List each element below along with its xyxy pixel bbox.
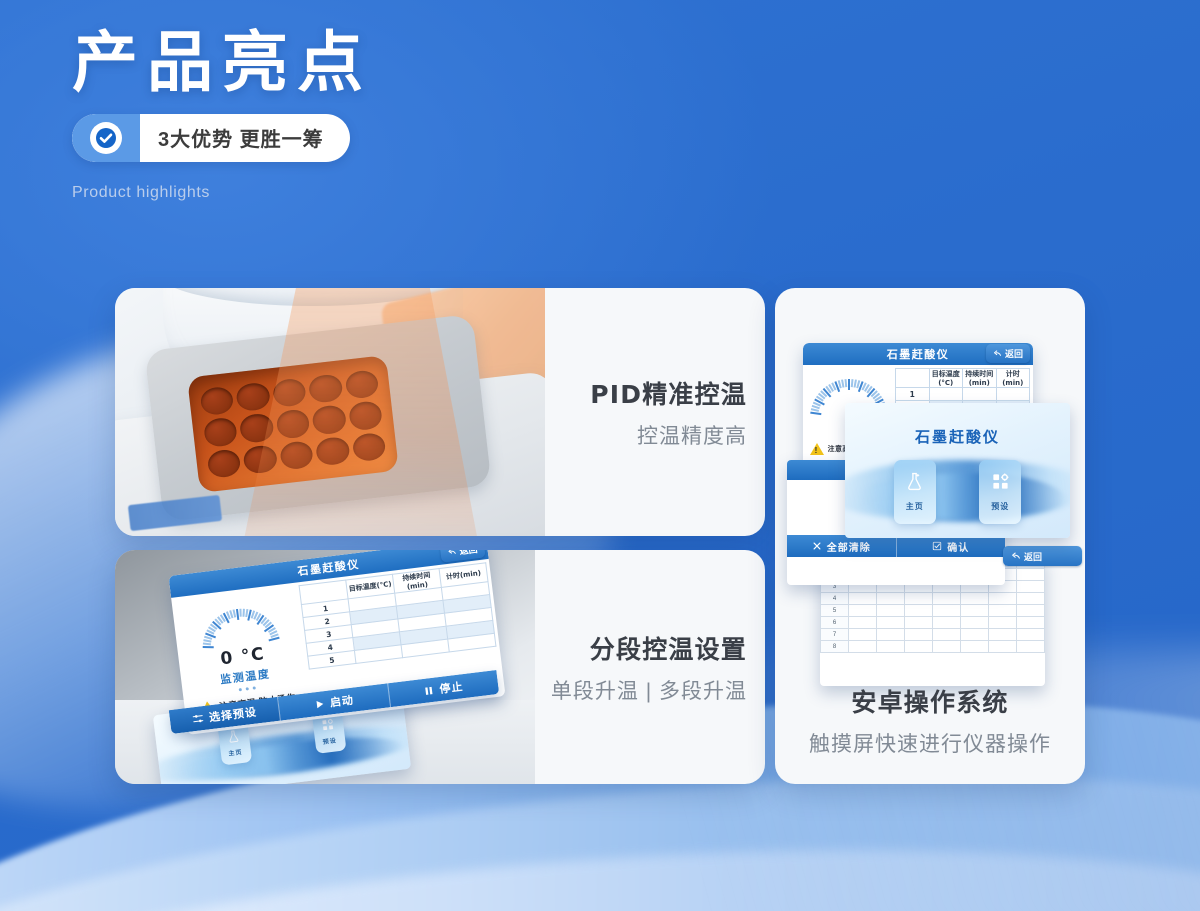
grid-settings-icon: [991, 472, 1010, 491]
card-segment-control[interactable]: 主页 预设 石墨赶酸仪: [115, 550, 765, 784]
table-row: 5: [821, 605, 1045, 617]
screen-app-title: 石墨赶酸仪: [887, 346, 950, 362]
pause-icon: [423, 684, 435, 696]
android-card-title: 安卓操作系统: [851, 683, 1008, 719]
back-arrow-icon: [993, 349, 1002, 358]
table-header-target-temp: 目标温度(°C): [929, 369, 963, 388]
table-row: 4: [821, 593, 1045, 605]
select-preset-label: 选择预设: [208, 704, 258, 726]
well-dot: [207, 448, 242, 479]
pid-product-photo: [115, 288, 545, 536]
well-dot: [199, 386, 234, 417]
clear-all-button[interactable]: 全部清除: [787, 535, 897, 557]
warning-triangle-icon: [810, 443, 824, 455]
back-arrow-icon: [447, 550, 457, 557]
pid-card-text: PID精准控温 控温精度高: [545, 288, 765, 536]
checkbox-icon: [932, 541, 942, 551]
back-button-label: 返回: [459, 550, 478, 557]
back-button[interactable]: 返回: [986, 344, 1030, 363]
table-row: 7: [821, 629, 1045, 641]
check-circle-icon: [90, 122, 122, 154]
gauge-indicator-dots: [238, 686, 255, 691]
start-label: 启动: [329, 692, 355, 711]
home-tile-main-label: 主页: [906, 501, 924, 512]
back-arrow-icon: [1011, 551, 1021, 561]
segment-card-text: 分段控温设置 单段升温 | 多段升温: [545, 550, 765, 784]
card-android-os[interactable]: 石墨赶酸仪 返回 注意高温 防: [775, 288, 1085, 784]
table-row: 1: [896, 388, 1030, 401]
home-tile-row: 主页 预设: [845, 447, 1070, 525]
pid-card-title: PID精准控温: [590, 375, 747, 411]
badge-label: 3大优势 更胜一筹: [140, 114, 350, 162]
clear-all-label: 全部清除: [827, 539, 871, 554]
card-pid[interactable]: PID精准控温 控温精度高: [115, 288, 765, 536]
segment-card-subtitle: 单段升温 | 多段升温: [551, 675, 747, 705]
page-subtitle-english: Product highlights: [72, 184, 372, 202]
advantage-badge: 3大优势 更胜一筹: [72, 114, 350, 162]
confirm-label: 确认: [947, 539, 969, 554]
table-header-duration: 持续时间(min): [963, 369, 997, 388]
android-home-modal[interactable]: 石墨赶酸仪 主页: [845, 403, 1070, 538]
table-row: 8: [821, 641, 1045, 653]
gauge-tick: [203, 646, 214, 648]
home-modal-title: 石墨赶酸仪: [845, 403, 1070, 447]
flask-icon: [905, 472, 924, 491]
sliders-icon: [191, 712, 204, 725]
table-header-index: [896, 369, 930, 388]
home-tile-main-label: 主页: [228, 746, 243, 757]
gauge-label: 监测温度: [219, 665, 271, 687]
gauge-tick: [239, 608, 241, 616]
gauge-tick: [848, 379, 850, 390]
floating-back-button[interactable]: 返回: [1003, 546, 1082, 566]
android-card-text: 安卓操作系统 触摸屏快速进行仪器操作: [775, 683, 1085, 758]
preset-footer-buttons: 全部清除 确认: [787, 535, 1005, 557]
page-header: 产品亮点 3大优势 更胜一筹 Product highlights: [72, 26, 372, 202]
gauge-arc: [198, 604, 282, 663]
floating-back-label: 返回: [1024, 550, 1042, 563]
android-screen-stack: 石墨赶酸仪 返回 注意高温 防: [775, 288, 1085, 688]
pid-card-subtitle: 控温精度高: [637, 420, 747, 450]
home-tile-preset-label: 预设: [991, 501, 1009, 512]
close-icon: [812, 541, 822, 551]
page-title: 产品亮点: [72, 26, 372, 100]
home-tile-preset-label: 预设: [322, 735, 337, 746]
table-row: 6: [821, 617, 1045, 629]
confirm-button[interactable]: 确认: [897, 535, 1006, 557]
table-header-row: 目标温度(°C) 持续时间(min) 计时(min): [896, 369, 1030, 388]
back-button-label: 返回: [1005, 347, 1023, 360]
gauge-tick: [810, 411, 821, 415]
home-tile-main[interactable]: 主页: [894, 460, 936, 524]
gauge-tick: [845, 379, 848, 387]
stop-label: 停止: [439, 678, 465, 697]
flask-icon: [226, 729, 240, 743]
android-card-subtitle: 触摸屏快速进行仪器操作: [809, 728, 1051, 758]
home-tile-preset[interactable]: 预设: [979, 460, 1021, 524]
segment-card-title: 分段控温设置: [590, 630, 747, 666]
play-icon: [313, 698, 325, 710]
well-dot: [236, 382, 271, 413]
grid-settings-icon: [320, 717, 334, 731]
screen-title-bar: 石墨赶酸仪 返回: [803, 343, 1033, 365]
screen-app-title: 石墨赶酸仪: [297, 556, 361, 579]
table-header-timer: 计时(min): [996, 369, 1030, 388]
badge-icon-area: [72, 114, 140, 162]
well-dot: [203, 417, 238, 448]
